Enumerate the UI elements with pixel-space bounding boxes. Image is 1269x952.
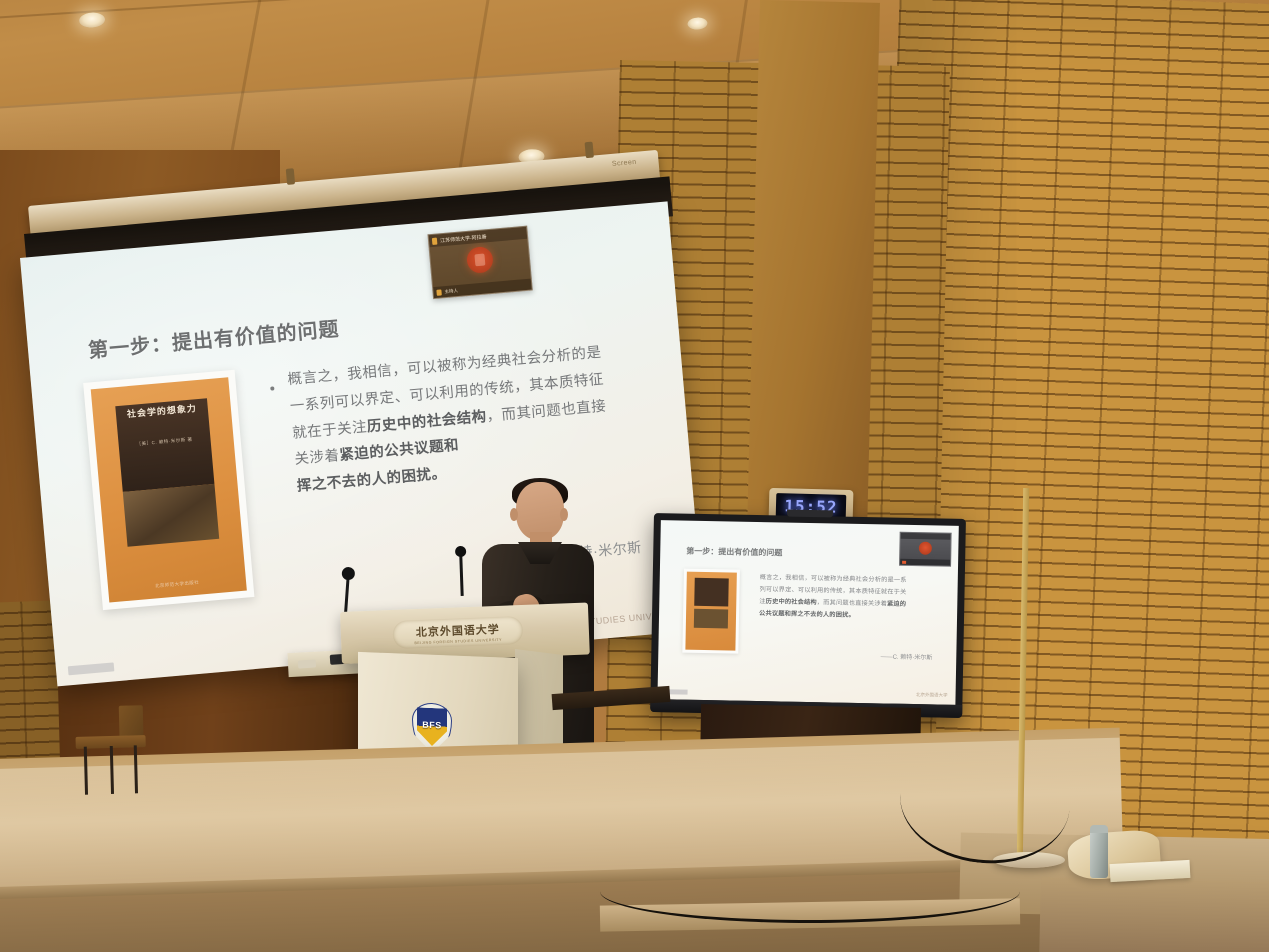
slide-title: 第一步：提出有价值的问题	[87, 312, 341, 363]
person-avatar-icon	[466, 246, 494, 274]
slide-body-text: 概言之，我相信，可以被称为经典社会分析的是一系列可以界定、可以利用的传统，其本质…	[287, 340, 613, 501]
ceiling-downlight-icon	[687, 17, 708, 30]
slide-text-bold-1: 历史中的社会结构	[366, 409, 487, 435]
wooden-chair	[75, 705, 148, 805]
chair-leg	[134, 745, 138, 793]
chair-leg	[110, 746, 114, 794]
microphone-icon[interactable]	[436, 289, 442, 295]
book-publisher: 北京师范大学出版社	[108, 576, 246, 594]
slide-taskbar-strip	[68, 662, 115, 675]
ceiling-downlight-icon	[79, 12, 106, 29]
bottle-cap	[1090, 825, 1108, 833]
presenter-ear	[510, 508, 518, 521]
camera-icon	[432, 237, 438, 244]
tv-video-conference-window	[899, 532, 952, 567]
slide-text-bold-3: 挥之不去的人的困扰。	[296, 466, 447, 495]
tv-screen: 第一步：提出有价值的问题 概言之，我相信，可以被称为经典社会分析的是一系列可以界…	[657, 520, 958, 705]
slide-text-bold-2: 紧迫的公共议题和	[339, 438, 460, 464]
tv-attribution: ——C. 赖特·米尔斯	[881, 651, 933, 661]
video-conference-participant: 主持人	[444, 287, 458, 294]
slide-bullet-icon	[270, 386, 274, 390]
right-step-platform-lower	[1039, 877, 1269, 952]
water-bottle	[1090, 826, 1108, 878]
video-conference-titlebar: 江苏师范大学-阿拉善	[429, 227, 528, 247]
lecture-hall-photo: Screen 第一步：提出有价值的问题 社会学的想象力 ［美］C. 赖特·米尔斯…	[0, 0, 1269, 952]
screen-brand-label: Screen	[612, 159, 637, 168]
presenter-ear	[560, 508, 568, 521]
video-conference-footer: 主持人	[433, 279, 532, 298]
table-equipment	[298, 659, 317, 668]
podium-nameplate: 北京外国语大学 BEIJING FOREIGN STUDIES UNIVERSI…	[392, 616, 523, 649]
book-cover-photo	[123, 484, 219, 547]
tv-camera-icon	[787, 510, 833, 518]
floor-cable	[600, 860, 1020, 923]
tv-person-avatar-icon	[919, 542, 932, 555]
video-conference-title: 江苏师范大学-阿拉善	[440, 233, 487, 244]
crest-initials: BFS	[412, 719, 452, 731]
tv-slide-title: 第一步：提出有价值的问题	[686, 546, 782, 559]
slide-book-image: 社会学的想象力 ［美］C. 赖特·米尔斯 著 北京师范大学出版社	[83, 370, 254, 610]
wall-pillar	[747, 0, 880, 523]
tv-text-run-2: ，而其问题也直接关涉着	[817, 599, 887, 607]
podium-nameplate-cn: 北京外国语大学	[416, 620, 501, 639]
tv-book-image	[682, 569, 740, 654]
tv-text-bold-3: 挥之不去的人的困扰。	[791, 611, 855, 619]
tv-text-bold-1: 历史中的社会结构	[766, 598, 817, 606]
confidence-monitor-tv[interactable]: 第一步：提出有价值的问题 概言之，我相信，可以被称为经典社会分析的是一系列可以界…	[650, 513, 966, 718]
video-conference-window[interactable]: 江苏师范大学-阿拉善 主持人	[427, 226, 532, 299]
tv-slide-body: 概言之，我相信，可以被称为经典社会分析的是一系列可以界定、可以利用的传统，其本质…	[759, 572, 910, 623]
book-cover: 社会学的想象力 ［美］C. 赖特·米尔斯 著 北京师范大学出版社	[91, 377, 247, 602]
chair-leg	[84, 747, 88, 795]
tv-watermark: 北京外国语大学	[916, 692, 948, 699]
